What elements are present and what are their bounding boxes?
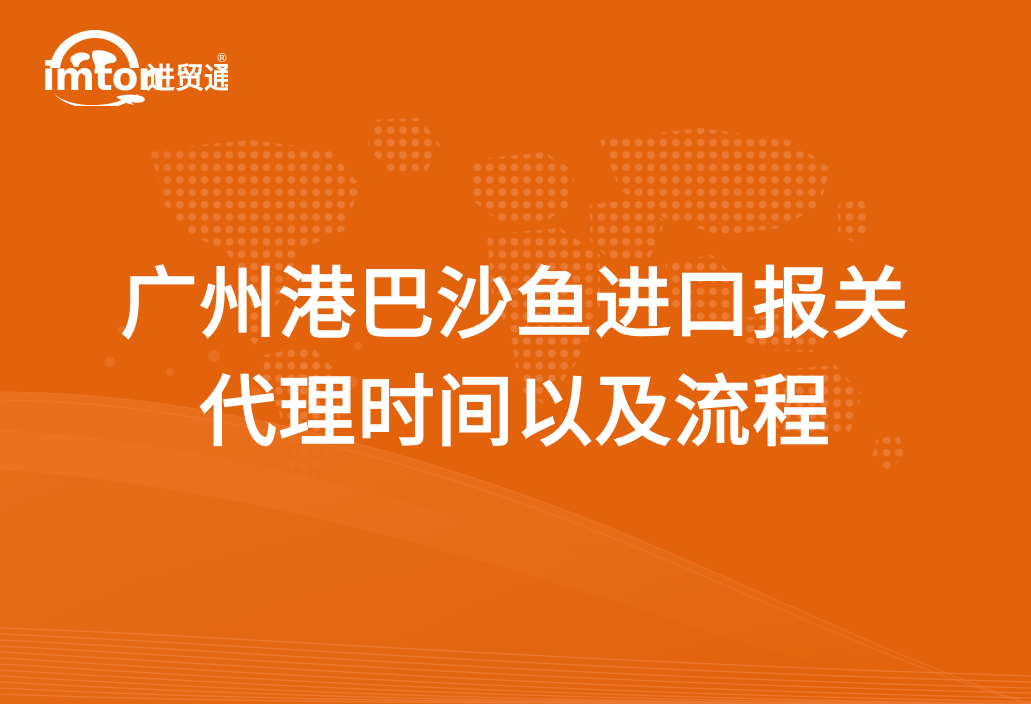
poster-banner: imton 进贸通 ® 广州港巴沙鱼进口报关 代理时间以及流程 (0, 0, 1031, 704)
brand-logo[interactable]: imton 进贸通 ® (38, 24, 228, 106)
title-line-1: 广州港巴沙鱼进口报关 (60, 252, 971, 360)
logo-chinese-name: 进贸通 (146, 61, 228, 95)
title-line-2: 代理时间以及流程 (60, 360, 971, 468)
registered-trademark-icon: ® (216, 51, 228, 65)
poster-title: 广州港巴沙鱼进口报关 代理时间以及流程 (0, 252, 1031, 468)
